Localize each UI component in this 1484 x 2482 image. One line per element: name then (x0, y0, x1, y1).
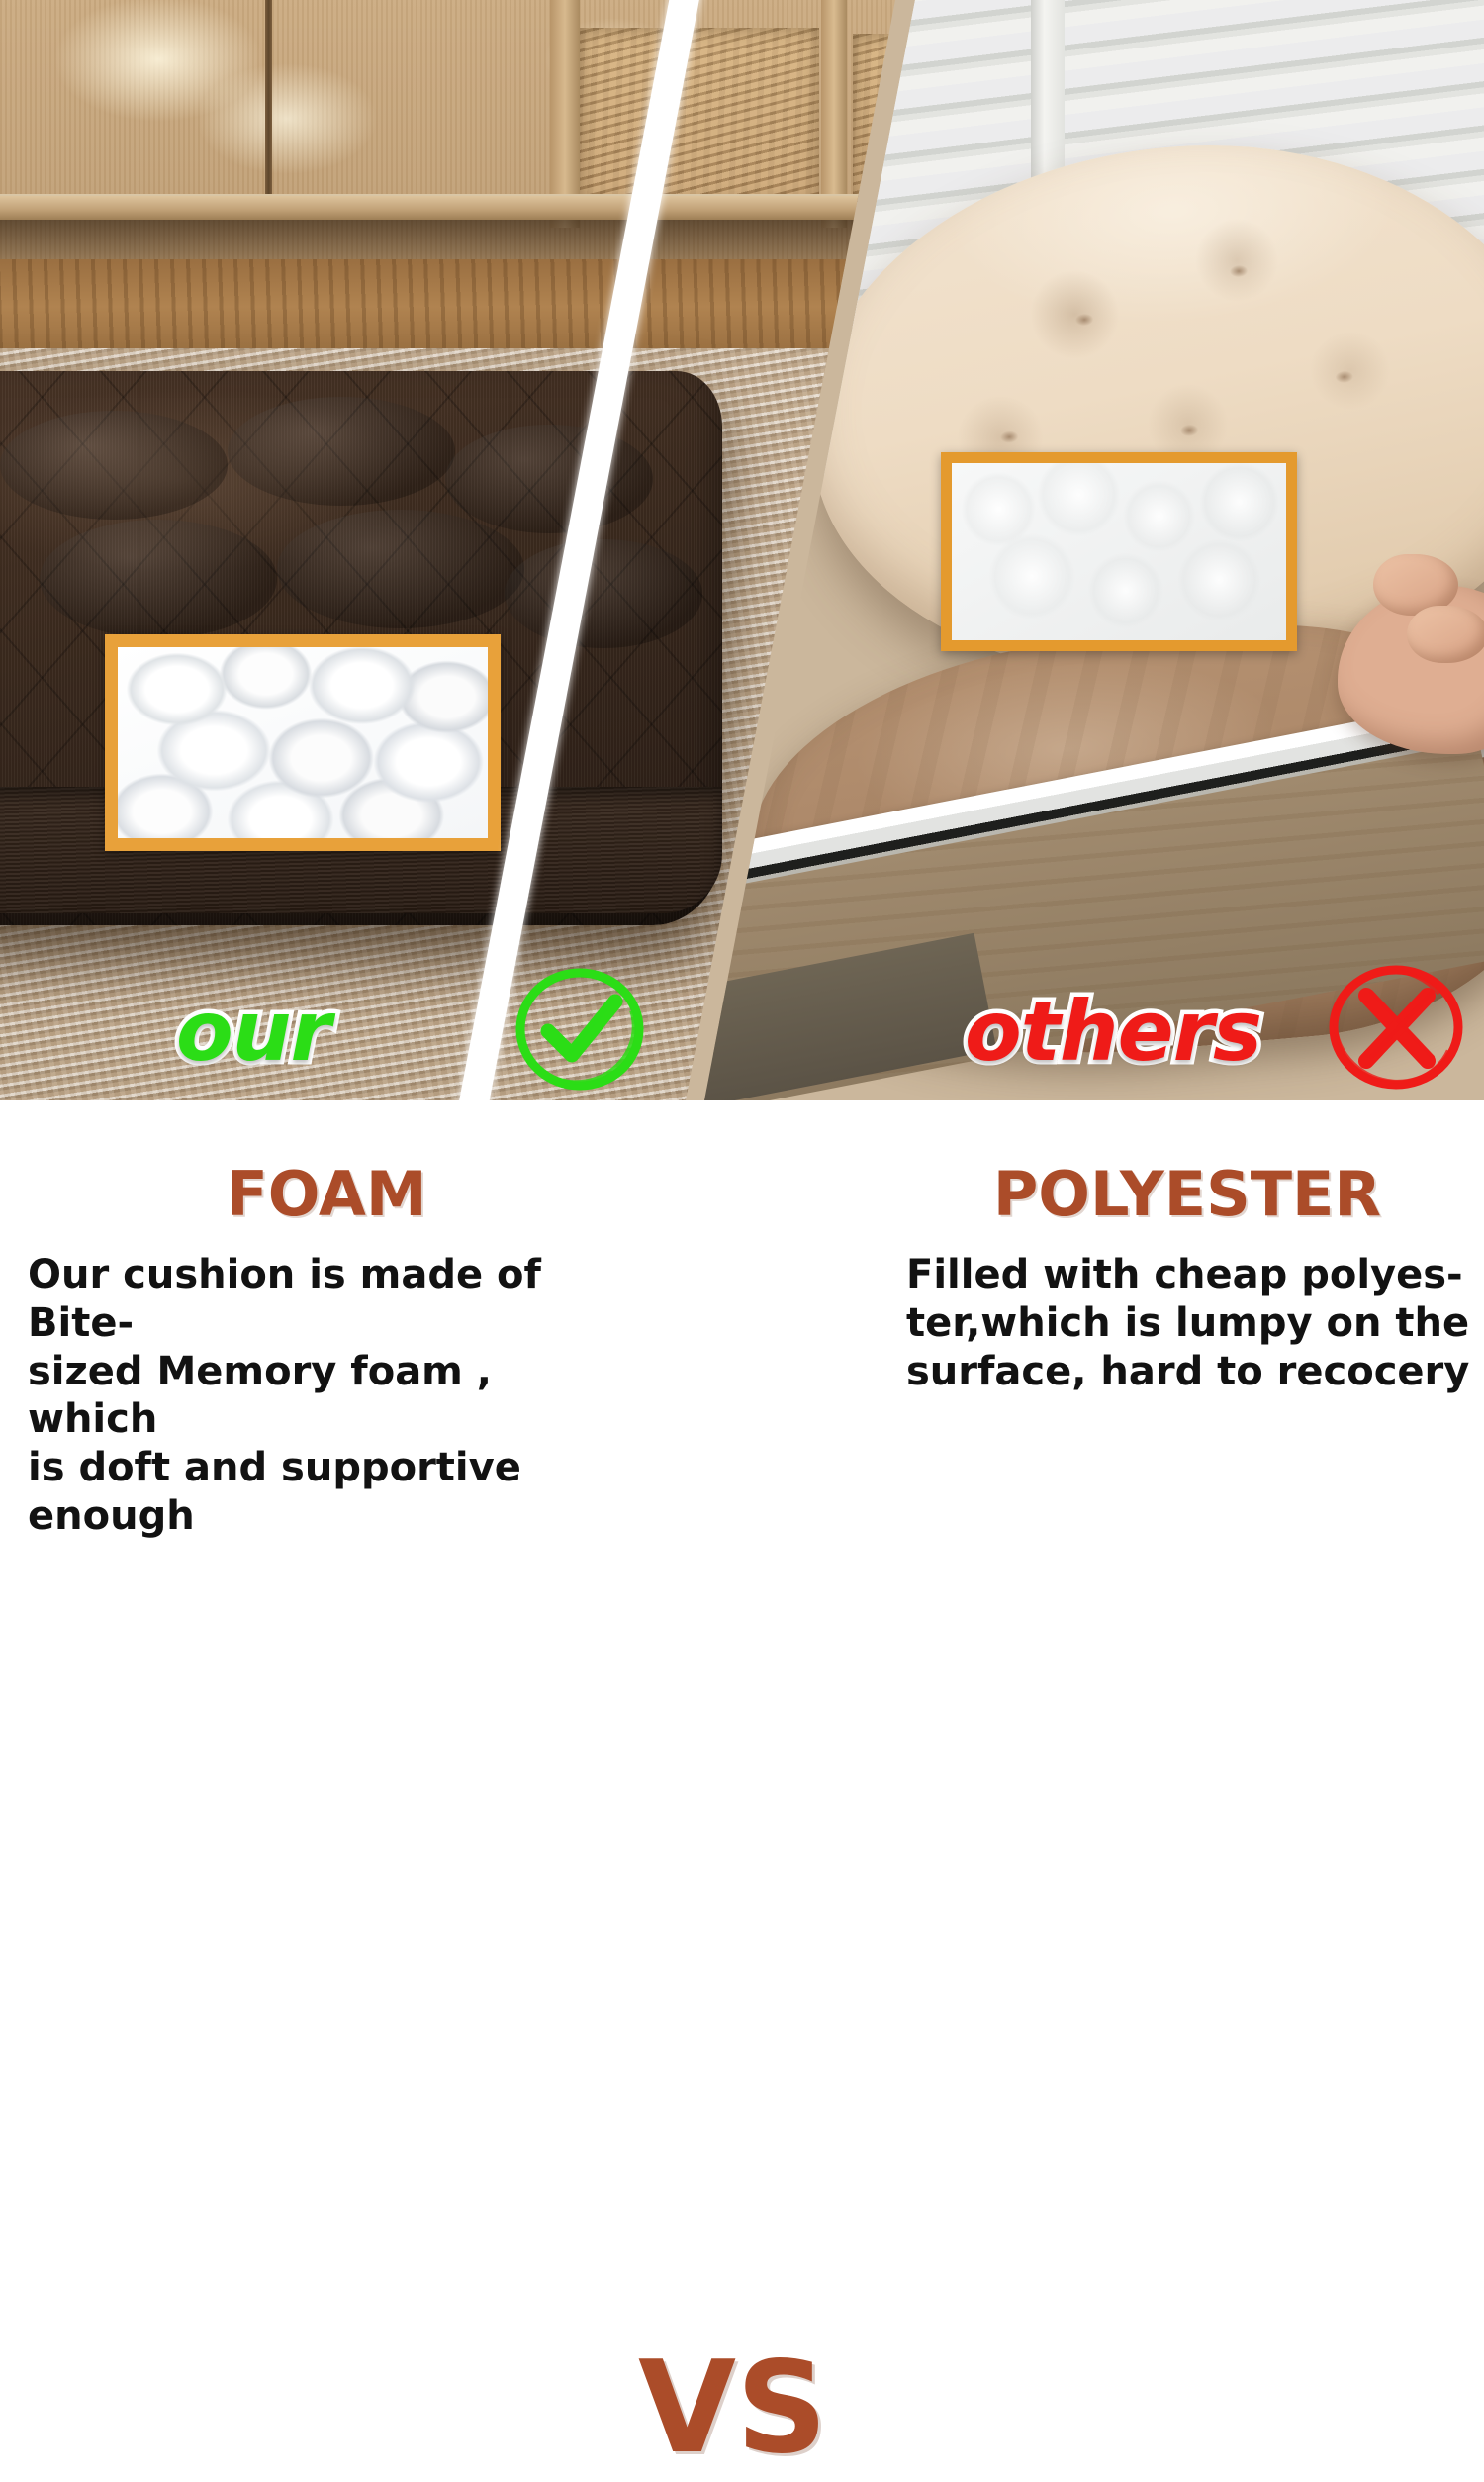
polyester-fill-texture (952, 463, 1286, 640)
versus-label: VS (638, 2345, 827, 2472)
foam-heading: FOAM (20, 1164, 633, 1225)
polyester-column: POLYESTER Filled with cheap polyes- ter,… (881, 1100, 1484, 1426)
photo-comparison-area: our others (0, 0, 1484, 1100)
foam-column: FOAM Our cushion is made of Bite- sized … (20, 1100, 633, 1426)
foam-description: Our cushion is made of Bite- sized Memor… (20, 1251, 633, 1541)
wicker-basket (580, 28, 819, 204)
product-comparison-page: our others FOAM Our cushion (0, 0, 1484, 1426)
finger (1407, 606, 1484, 663)
foam-chunks-texture (118, 647, 488, 838)
check-circle-icon (510, 966, 649, 1095)
others-label: others (965, 990, 1261, 1073)
cross-circle-icon (1322, 962, 1470, 1093)
polyester-callout-box (941, 452, 1297, 651)
description-area: FOAM Our cushion is made of Bite- sized … (0, 1100, 1484, 1426)
cabinet-door-gap (265, 0, 272, 198)
cabinet-bottom-rail (0, 194, 930, 220)
our-label: our (176, 990, 330, 1073)
foam-callout-box (105, 634, 501, 851)
polyester-heading: POLYESTER (881, 1164, 1484, 1225)
polyester-description: Filled with cheap polyes- ter,which is l… (881, 1251, 1484, 1395)
shelf-shadow-gap (683, 933, 996, 1100)
